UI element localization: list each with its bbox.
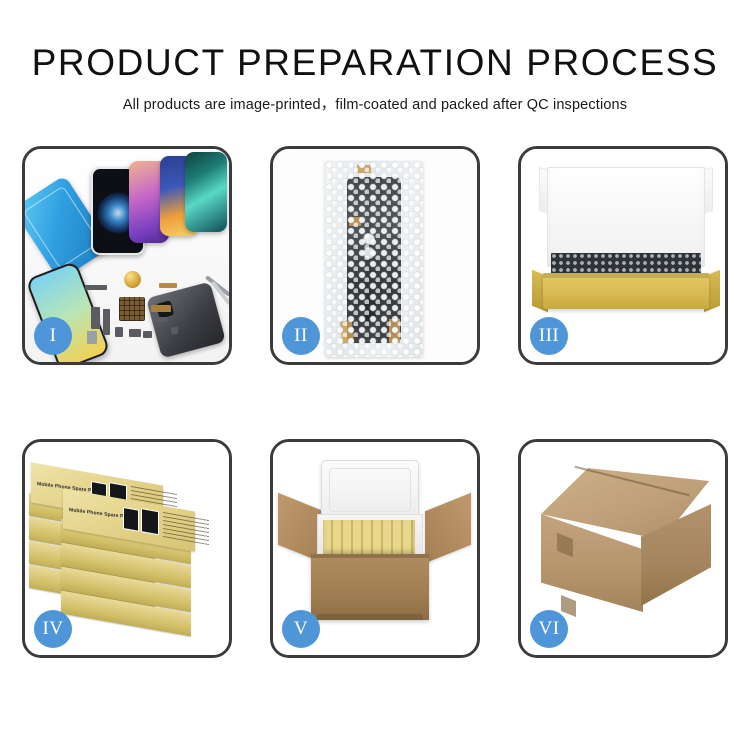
process-step-panel-6[interactable]: VI [518, 439, 728, 658]
step-badge-1: I [34, 317, 72, 355]
process-step-panel-4[interactable]: Mobile Phone Spare Parts Mobile Phone Sp… [22, 439, 232, 658]
step-badge-4: IV [34, 610, 72, 648]
process-step-panel-3[interactable]: III [518, 146, 728, 365]
step-badge-6: VI [530, 610, 568, 648]
step-badge-5: V [282, 610, 320, 648]
process-steps-grid: I II [22, 146, 728, 698]
step-badge-3: III [530, 317, 568, 355]
page-title: PRODUCT PREPARATION PROCESS [0, 0, 750, 83]
header: PRODUCT PREPARATION PROCESS All products… [0, 0, 750, 114]
process-step-panel-5[interactable]: V [270, 439, 480, 658]
product-preparation-process-page: PRODUCT PREPARATION PROCESS All products… [0, 0, 750, 750]
process-step-panel-1[interactable]: I [22, 146, 232, 365]
page-subtitle: All products are image-printed，film-coat… [0, 83, 750, 114]
step-badge-2: II [282, 317, 320, 355]
process-step-panel-2[interactable]: II [270, 146, 480, 365]
